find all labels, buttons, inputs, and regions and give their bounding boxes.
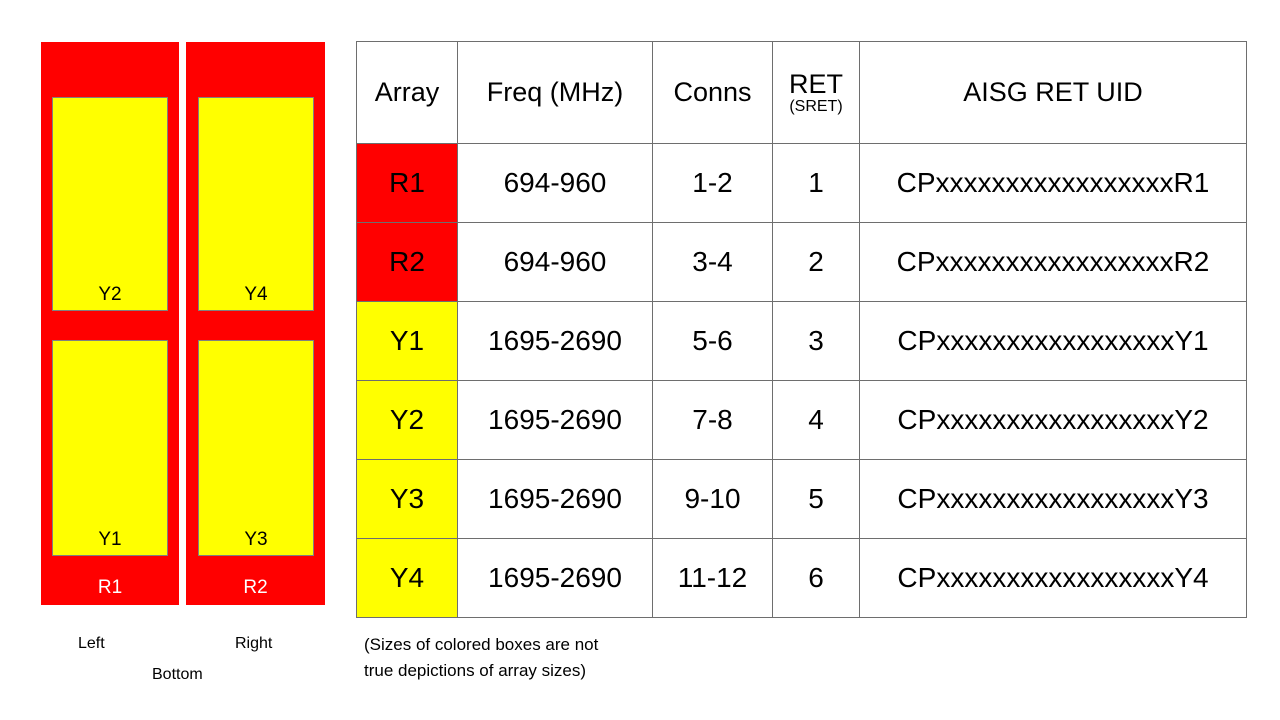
table-row: Y4 1695-2690 11-12 6 CPxxxxxxxxxxxxxxxxx… [357, 539, 1247, 618]
antenna-diagram: Y2 Y1 R1 Y4 Y3 R2 Left Right Bottom [0, 0, 350, 720]
table-row: Y3 1695-2690 9-10 5 CPxxxxxxxxxxxxxxxxxY… [357, 460, 1247, 539]
cell-array-r2: R2 [357, 223, 458, 302]
cell-array-y3: Y3 [357, 460, 458, 539]
cell-uid-y2: CPxxxxxxxxxxxxxxxxxY2 [860, 381, 1247, 460]
table-row: R2 694-960 3-4 2 CPxxxxxxxxxxxxxxxxxR2 [357, 223, 1247, 302]
array-box-y3: Y3 [198, 340, 314, 556]
array-box-label-y1: Y1 [53, 530, 167, 549]
table-footnote-line-2: true depictions of array sizes) [364, 658, 704, 684]
cell-ret-y4: 6 [773, 539, 860, 618]
antenna-panel-right: Y4 Y3 R2 [186, 42, 325, 605]
cell-conns-y1: 5-6 [653, 302, 773, 381]
table-row: Y1 1695-2690 5-6 3 CPxxxxxxxxxxxxxxxxxY1 [357, 302, 1247, 381]
cell-uid-r2: CPxxxxxxxxxxxxxxxxxR2 [860, 223, 1247, 302]
orientation-label-bottom: Bottom [152, 666, 203, 684]
cell-uid-y4: CPxxxxxxxxxxxxxxxxxY4 [860, 539, 1247, 618]
cell-array-y1: Y1 [357, 302, 458, 381]
cell-ret-y1: 3 [773, 302, 860, 381]
column-header-aisg-ret-uid: AISG RET UID [860, 42, 1247, 144]
cell-freq-r1: 694-960 [458, 144, 653, 223]
column-header-ret-sub: (SRET) [773, 98, 859, 116]
cell-freq-y3: 1695-2690 [458, 460, 653, 539]
cell-array-r1: R1 [357, 144, 458, 223]
cell-uid-y3: CPxxxxxxxxxxxxxxxxxY3 [860, 460, 1247, 539]
cell-freq-y2: 1695-2690 [458, 381, 653, 460]
cell-ret-y2: 4 [773, 381, 860, 460]
antenna-panel-left: Y2 Y1 R1 [41, 42, 179, 605]
cell-array-y4: Y4 [357, 539, 458, 618]
cell-array-y2: Y2 [357, 381, 458, 460]
column-header-ret-main: RET [773, 70, 859, 98]
array-box-y4: Y4 [198, 97, 314, 311]
array-box-label-y2: Y2 [53, 285, 167, 304]
cell-ret-r1: 1 [773, 144, 860, 223]
cell-freq-r2: 694-960 [458, 223, 653, 302]
cell-conns-r1: 1-2 [653, 144, 773, 223]
orientation-label-left: Left [78, 635, 105, 653]
cell-uid-r1: CPxxxxxxxxxxxxxxxxxR1 [860, 144, 1247, 223]
panel-label-r1: R1 [41, 578, 179, 597]
array-box-label-y4: Y4 [199, 285, 313, 304]
array-box-y2: Y2 [52, 97, 168, 311]
panel-label-r2: R2 [186, 578, 325, 597]
cell-conns-y2: 7-8 [653, 381, 773, 460]
column-header-array: Array [357, 42, 458, 144]
ret-assignment-table: Array Freq (MHz) Conns RET (SRET) AISG R… [356, 41, 1247, 618]
column-header-freq: Freq (MHz) [458, 42, 653, 144]
cell-conns-y3: 9-10 [653, 460, 773, 539]
cell-freq-y1: 1695-2690 [458, 302, 653, 381]
cell-ret-r2: 2 [773, 223, 860, 302]
table-footnote: (Sizes of colored boxes are not true dep… [364, 632, 704, 683]
array-box-y1: Y1 [52, 340, 168, 556]
cell-uid-y1: CPxxxxxxxxxxxxxxxxxY1 [860, 302, 1247, 381]
cell-conns-y4: 11-12 [653, 539, 773, 618]
cell-conns-r2: 3-4 [653, 223, 773, 302]
table-footnote-line-1: (Sizes of colored boxes are not [364, 632, 704, 658]
table-header-row: Array Freq (MHz) Conns RET (SRET) AISG R… [357, 42, 1247, 144]
orientation-label-right: Right [235, 635, 272, 653]
table-row: R1 694-960 1-2 1 CPxxxxxxxxxxxxxxxxxR1 [357, 144, 1247, 223]
array-box-label-y3: Y3 [199, 530, 313, 549]
column-header-conns: Conns [653, 42, 773, 144]
cell-freq-y4: 1695-2690 [458, 539, 653, 618]
cell-ret-y3: 5 [773, 460, 860, 539]
column-header-ret: RET (SRET) [773, 42, 860, 144]
table-row: Y2 1695-2690 7-8 4 CPxxxxxxxxxxxxxxxxxY2 [357, 381, 1247, 460]
